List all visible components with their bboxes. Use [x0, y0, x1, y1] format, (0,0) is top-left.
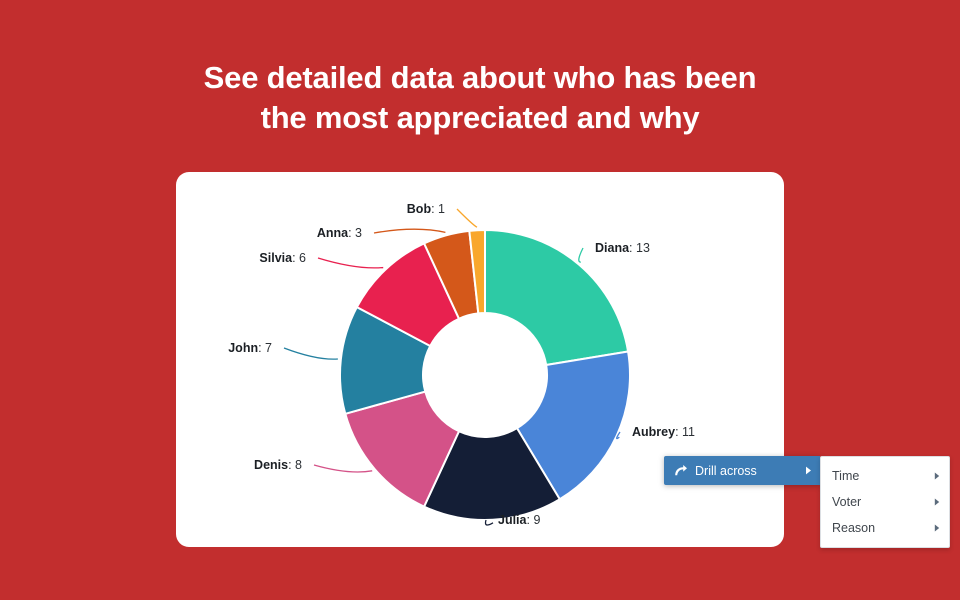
donut-slices — [340, 230, 630, 520]
screenshot-root: See detailed data about who has been the… — [0, 0, 960, 600]
donut-slice-label: Silvia: 6 — [176, 251, 306, 265]
context-submenu: TimeVoterReason — [820, 456, 950, 548]
donut-slice-label: John: 7 — [176, 341, 272, 355]
donut-slice-label-name: Aubrey — [632, 425, 675, 439]
context-menu: Drill across — [664, 456, 820, 485]
page-title-line-1: See detailed data about who has been — [0, 58, 960, 98]
menu-item-drill-across[interactable]: Drill across — [664, 456, 820, 485]
donut-slice-label: Aubrey: 11 — [632, 425, 695, 439]
donut-slice-label-name: John — [228, 341, 258, 355]
chart-card: Diana: 13Aubrey: 11Julia: 9Denis: 8John:… — [176, 172, 784, 547]
submenu-item-label: Voter — [832, 495, 934, 509]
donut-slice-label-value: : 8 — [288, 458, 302, 472]
donut-leader-line — [314, 465, 372, 472]
chevron-right-icon — [934, 472, 940, 480]
submenu-item-time[interactable]: Time — [821, 463, 949, 489]
donut-slice-label: Diana: 13 — [595, 241, 650, 255]
donut-slice-label-name: Bob — [407, 202, 431, 216]
donut-slice-label-value: : 13 — [629, 241, 650, 255]
donut-chart: Diana: 13Aubrey: 11Julia: 9Denis: 8John:… — [176, 172, 784, 547]
donut-slice-label-value: : 1 — [431, 202, 445, 216]
donut-leader-line — [579, 248, 583, 262]
submenu-item-voter[interactable]: Voter — [821, 489, 949, 515]
donut-leader-line — [284, 348, 338, 359]
submenu-item-reason[interactable]: Reason — [821, 515, 949, 541]
donut-leader-line — [457, 209, 477, 227]
submenu-item-label: Time — [832, 469, 934, 483]
page-title: See detailed data about who has been the… — [0, 58, 960, 138]
donut-leader-line — [374, 229, 445, 233]
donut-slice-label: Anna: 3 — [176, 226, 362, 240]
drill-across-arrow-icon — [673, 464, 688, 478]
page-title-line-2: the most appreciated and why — [0, 98, 960, 138]
donut-slice-label-name: Denis — [254, 458, 288, 472]
donut-slice-label-value: : 11 — [675, 425, 695, 439]
donut-slice-label-value: : 6 — [292, 251, 306, 265]
donut-slice-label: Bob: 1 — [176, 202, 445, 216]
donut-slice-label-value: : 9 — [527, 513, 541, 527]
submenu-item-label: Reason — [832, 521, 934, 535]
donut-slice-label-value: : 7 — [258, 341, 272, 355]
donut-slice-label-name: Diana — [595, 241, 629, 255]
donut-slice-label: Julia: 9 — [498, 513, 540, 527]
chevron-right-icon — [934, 524, 940, 532]
donut-slice-label-name: Anna — [317, 226, 348, 240]
donut-leader-line — [318, 258, 383, 268]
chevron-right-icon — [934, 498, 940, 506]
donut-slice-label-name: Silvia — [259, 251, 292, 265]
donut-slice-label: Denis: 8 — [176, 458, 302, 472]
menu-item-drill-across-label: Drill across — [695, 464, 799, 478]
donut-slice-label-value: : 3 — [348, 226, 362, 240]
donut-slice-label-name: Julia — [498, 513, 527, 527]
chevron-right-icon — [805, 466, 812, 475]
